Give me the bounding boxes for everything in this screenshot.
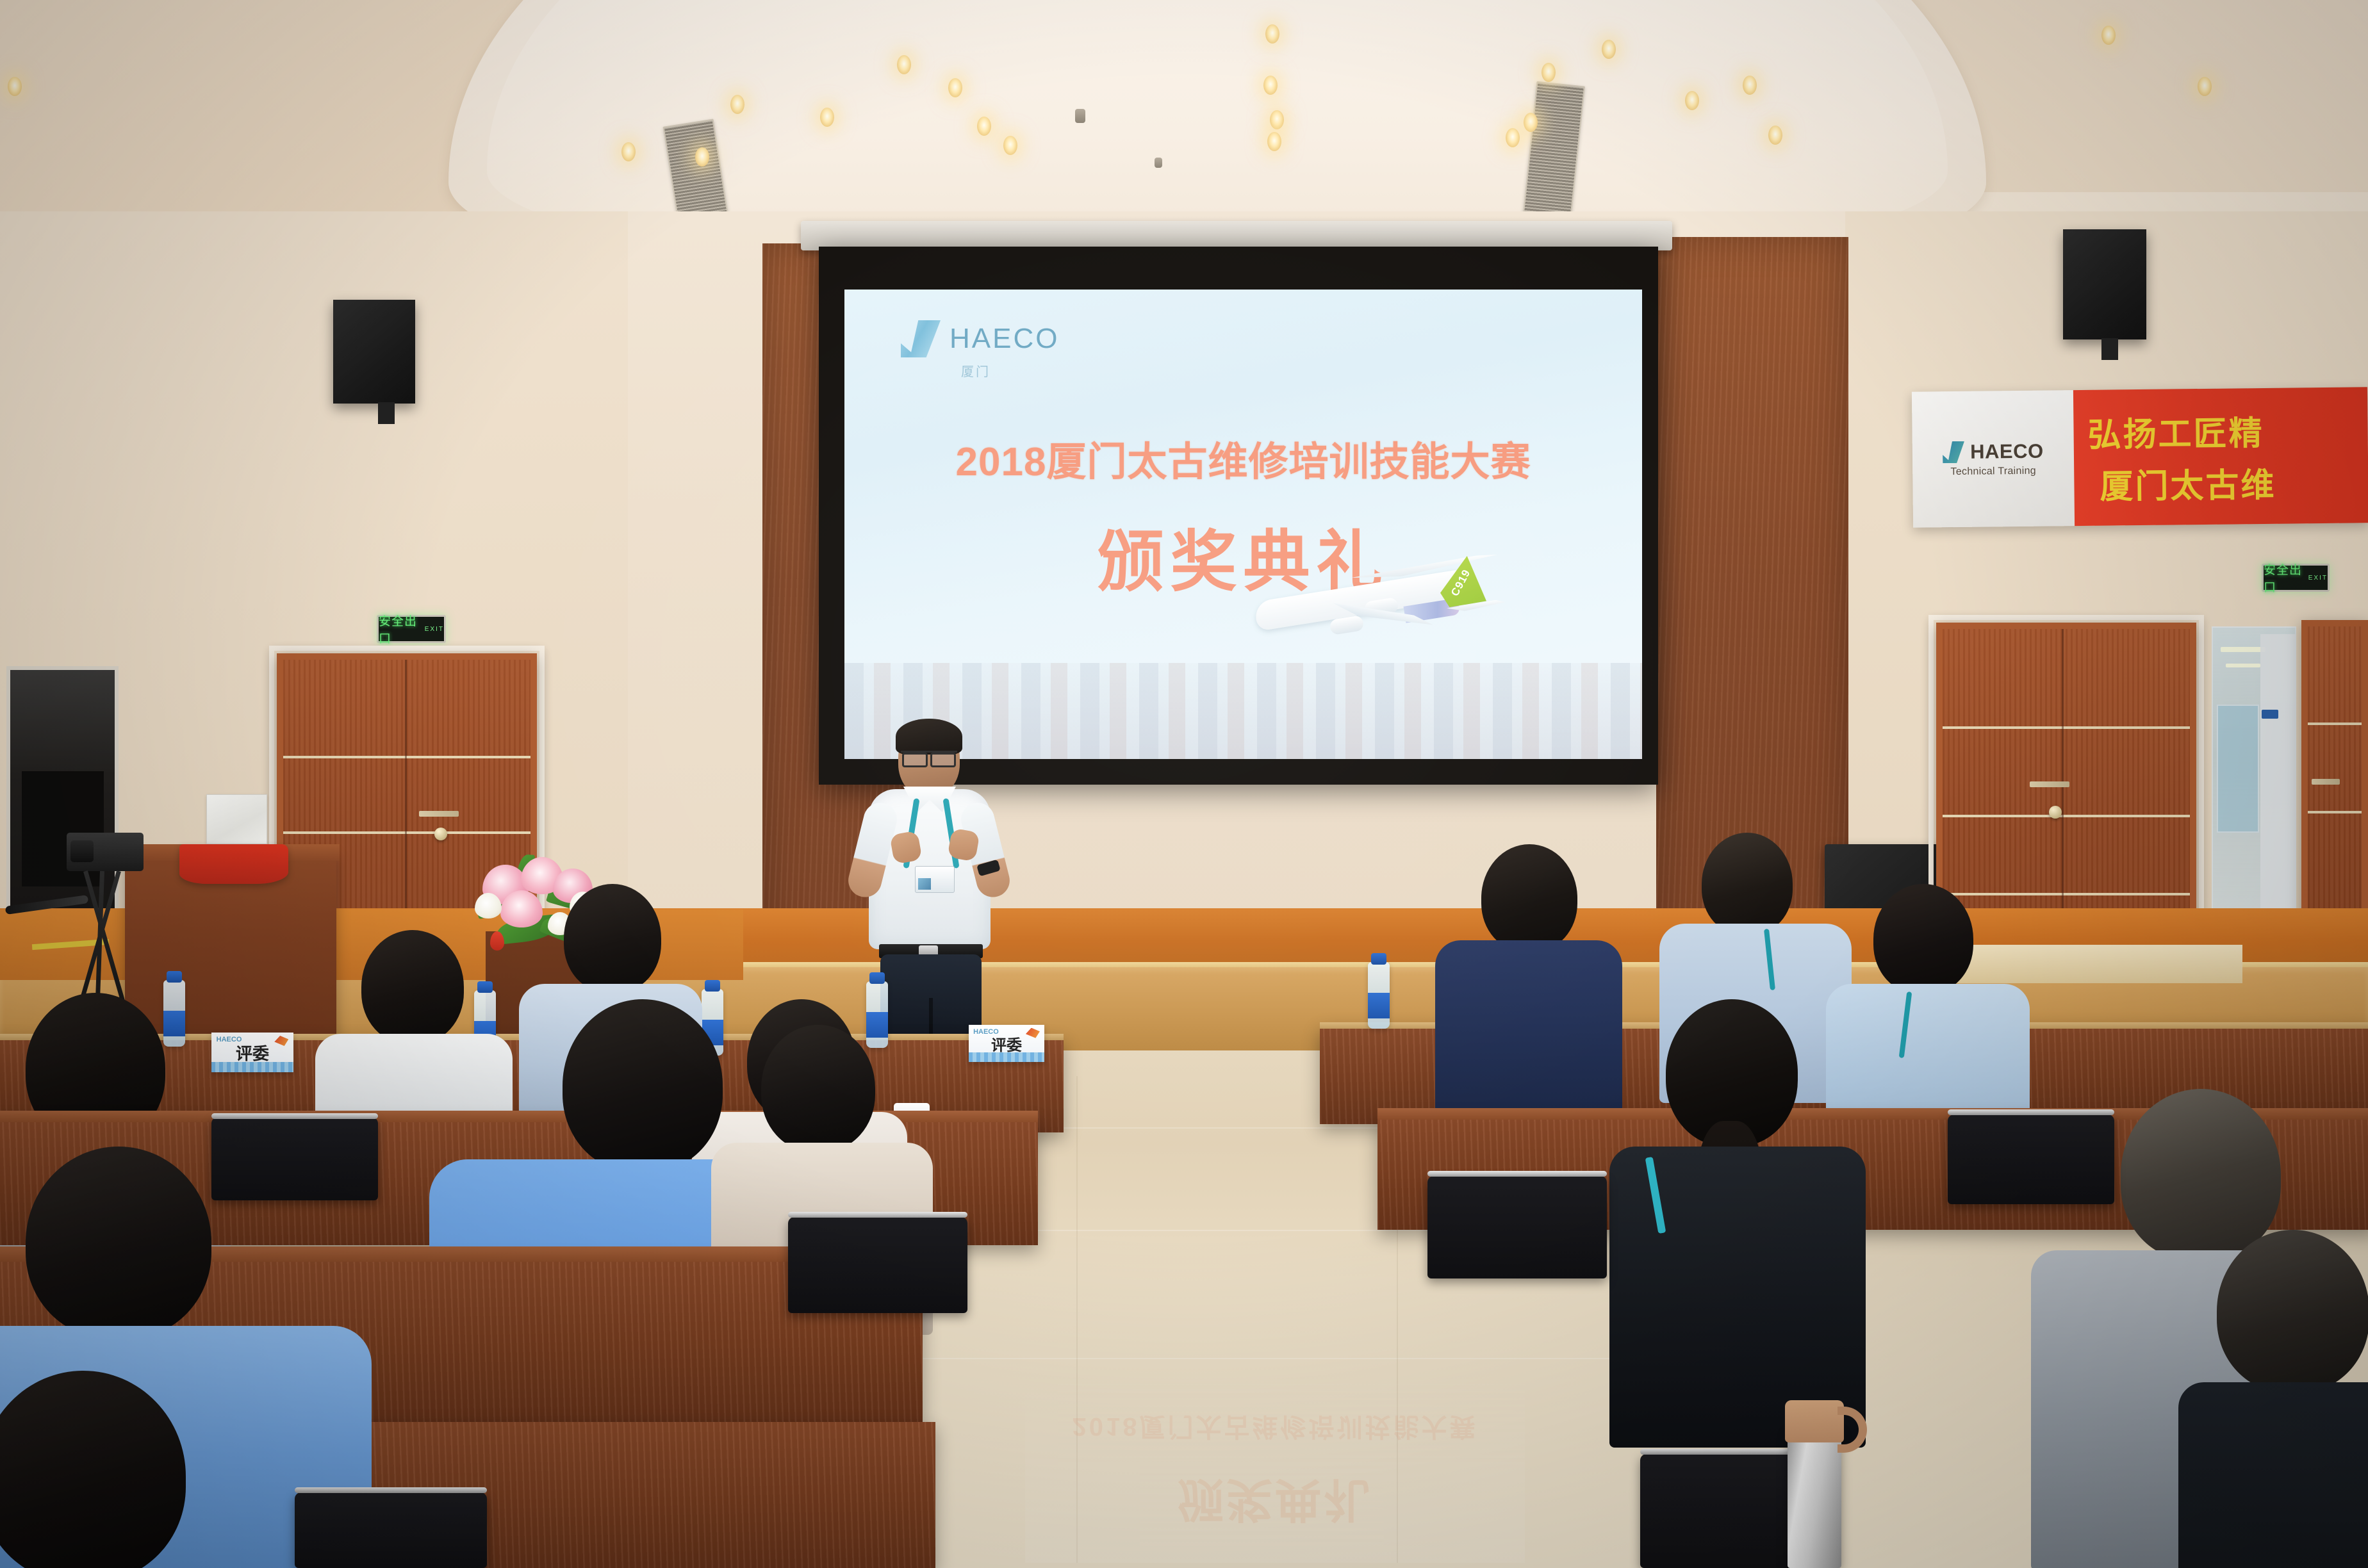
glasses-icon <box>901 751 957 762</box>
door-inlay-line <box>2308 811 2362 813</box>
banner-slogan-line-1: 弘扬工匠精 <box>2087 405 2368 456</box>
thermos-lid <box>1785 1400 1844 1442</box>
ceiling-downlight <box>1263 76 1278 95</box>
chair-back <box>295 1492 487 1568</box>
door-push-plate <box>2030 781 2069 787</box>
wall-speaker-right <box>2063 229 2146 339</box>
ceiling-downlight <box>2198 77 2212 96</box>
bottle-cap <box>1371 953 1386 965</box>
ceiling-downlight <box>977 117 991 136</box>
corridor-glass-door <box>2217 705 2259 833</box>
door-inlay-line <box>1943 815 2190 817</box>
audience-head <box>1702 833 1793 935</box>
floor-reflection-of-slide: 颁奖典礼 2018厦门太古维修培训技能大赛 <box>1025 1371 1525 1563</box>
reflection-text-line-b: 2018厦门太古维修培训技能大赛 <box>1025 1410 1525 1448</box>
ceiling-downlight <box>1768 126 1782 145</box>
door-inlay-line <box>2308 723 2362 725</box>
audience-member-ponytail <box>1595 999 1877 1448</box>
wall-speaker-left <box>333 300 415 404</box>
exit-sign-right: 安全出口 EXIT <box>2262 564 2330 592</box>
ceiling-downlight <box>1524 113 1538 132</box>
name-card-accent-icon <box>1026 1028 1040 1038</box>
door-handle[interactable] <box>2049 806 2062 819</box>
ceiling-downlight <box>8 77 22 96</box>
door-inlay-line <box>1943 726 2190 729</box>
corridor-column <box>2260 634 2296 935</box>
ceiling-downlight <box>1542 63 1556 82</box>
audience-head <box>26 1147 211 1339</box>
banner-slogan-line-2: 厦门太古维 <box>2088 457 2368 508</box>
video-camera-tripod <box>45 833 167 1018</box>
audience-head <box>0 1371 186 1568</box>
speaker-bracket-right <box>2101 338 2118 360</box>
door-inlay-line <box>283 756 530 758</box>
bottle-cap <box>167 971 182 983</box>
exit-sign-en-text: EXIT <box>2308 575 2328 582</box>
auditorium-scene: 安全出口 EXIT 安全出口 EXIT HAECO 厦门 2018厦门太古维修培… <box>0 0 2368 1568</box>
ceiling-downlight <box>1267 132 1281 151</box>
haeco-tail-icon <box>901 320 941 357</box>
exit-sign-left: 安全出口 EXIT <box>377 615 446 643</box>
haeco-wordmark: HAECO <box>950 323 1059 355</box>
bottle-cap <box>705 980 720 992</box>
chair-frame <box>788 1212 967 1218</box>
ceiling-downlight <box>1265 24 1279 44</box>
audience-head <box>761 1025 875 1152</box>
ceiling-downlight <box>1003 136 1017 155</box>
ceiling-downlight <box>730 95 744 114</box>
ceiling-downlight <box>1270 110 1284 129</box>
exit-sign-en-text: EXIT <box>425 626 444 633</box>
ceiling-downlight <box>820 108 834 127</box>
chair-back <box>1948 1115 2114 1204</box>
ceiling-downlight <box>621 142 636 161</box>
slide-title: 2018厦门太古维修培训技能大赛 <box>844 429 1642 487</box>
audience-torso <box>1435 940 1622 1120</box>
name-card-accent-icon <box>274 1036 288 1046</box>
presentation-slide: HAECO 厦门 2018厦门太古维修培训技能大赛 颁奖典礼 C919 <box>844 290 1642 759</box>
ceiling-downlight <box>1685 91 1699 110</box>
ceiling-downlight <box>948 78 962 97</box>
banner-white-section: HAECO Technical Training <box>1912 390 2075 528</box>
smoke-detector <box>1075 109 1085 123</box>
bottle-cap <box>869 972 885 984</box>
id-badge <box>915 866 955 893</box>
door-inlay-line <box>283 831 530 834</box>
name-card-footer-strip <box>969 1052 1044 1062</box>
exit-sign-cn-text: 安全出口 <box>379 612 422 646</box>
audience-head <box>563 999 723 1172</box>
ceiling-downlight <box>2101 26 2116 45</box>
corridor-ceiling-lamp <box>2221 647 2265 652</box>
corridor-ceiling-lamp <box>2226 664 2260 667</box>
audience-member-ponytail-foreground-left <box>0 1371 275 1568</box>
chair-back <box>788 1217 967 1313</box>
banner-wordmark: HAECO <box>1970 440 2044 464</box>
aircraft-illustration: C919 <box>1254 543 1530 665</box>
name-card-label: 评委 <box>236 1041 269 1065</box>
speaker-bracket-left <box>378 402 395 424</box>
haeco-tail-icon <box>1943 441 1964 463</box>
chair-back <box>1427 1176 1607 1278</box>
audience-head <box>2217 1230 2368 1392</box>
audience-torso <box>2178 1382 2368 1568</box>
banner-red-section: 弘扬工匠精 厦门太古维 <box>2073 387 2368 526</box>
ceiling-downlight <box>1743 76 1757 95</box>
audience-head <box>1481 844 1577 952</box>
bottle-label <box>1368 993 1390 1018</box>
presenter-hair <box>896 719 962 755</box>
chair-frame <box>211 1113 378 1119</box>
floor-tile-seam <box>859 1358 1640 1359</box>
name-card-label: 评委 <box>991 1033 1022 1055</box>
door-push-plate <box>419 811 459 817</box>
smoke-detector <box>1155 158 1162 168</box>
water-bottle <box>1368 962 1390 1029</box>
audience-head <box>564 884 661 993</box>
name-card-logo: HAECO <box>973 1028 999 1036</box>
ceiling-downlight <box>897 55 911 74</box>
ceiling-downlight <box>1506 128 1520 147</box>
corridor-wall-sign <box>2262 710 2278 719</box>
audience-head <box>1873 884 1973 994</box>
ceiling-downlight <box>1602 40 1616 59</box>
thermos-flask <box>1788 1428 1841 1568</box>
banner-logo-row: HAECO <box>1943 440 2044 464</box>
banner-sublabel: Technical Training <box>1950 466 2036 478</box>
ceiling-downlight <box>695 147 709 167</box>
audience-member-back-right-corner <box>2178 1230 2368 1568</box>
exit-sign-cn-text: 安全出口 <box>2264 560 2305 595</box>
chair-frame <box>1427 1171 1607 1177</box>
wall-banner: HAECO Technical Training 弘扬工匠精 厦门太古维 <box>1912 387 2368 527</box>
red-cloth <box>179 844 288 884</box>
chair-frame <box>1948 1109 2114 1115</box>
chair-frame <box>295 1487 487 1493</box>
door-push-plate <box>2312 779 2340 785</box>
chair-back <box>211 1117 378 1200</box>
slide-logo-sublabel: 厦门 <box>961 361 991 380</box>
wall-notice-sheet <box>206 794 267 844</box>
name-card-judge-right: HAECO 评委 <box>969 1025 1044 1062</box>
slide-haeco-logo: HAECO <box>901 320 1059 357</box>
door-handle[interactable] <box>434 828 447 840</box>
camera-lens-icon <box>70 840 94 862</box>
reflection-text-line-a: 颁奖典礼 <box>1025 1470 1525 1537</box>
